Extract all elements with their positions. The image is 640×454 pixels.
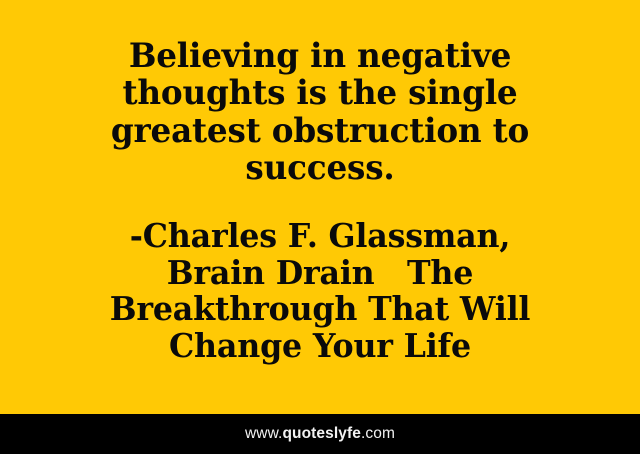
quote-line: greatest obstruction to: [34, 113, 606, 150]
attribution-source-line: Brain Drain The: [34, 255, 606, 292]
footer-bar: www.quoteslyfe.com: [0, 414, 640, 454]
quote-text: Believing in negative thoughts is the si…: [34, 38, 606, 188]
website-label: www.quoteslyfe.com: [245, 425, 395, 443]
quote-line: success.: [34, 150, 606, 187]
attribution-source-line: Breakthrough That Will: [34, 291, 606, 328]
quote-line: Believing in negative: [34, 38, 606, 75]
website-prefix: www.: [245, 425, 282, 442]
quote-line: thoughts is the single: [34, 75, 606, 112]
quote-content-area: Believing in negative thoughts is the si…: [0, 0, 640, 414]
website-brand: quoteslyfe: [282, 425, 361, 442]
website-suffix: .com: [361, 425, 395, 442]
attribution-source-line: Change Your Life: [34, 328, 606, 365]
quote-attribution: -Charles F. Glassman, Brain Drain The Br…: [34, 188, 606, 366]
attribution-author-line: -Charles F. Glassman,: [34, 218, 606, 255]
quote-card: Believing in negative thoughts is the si…: [0, 0, 640, 454]
